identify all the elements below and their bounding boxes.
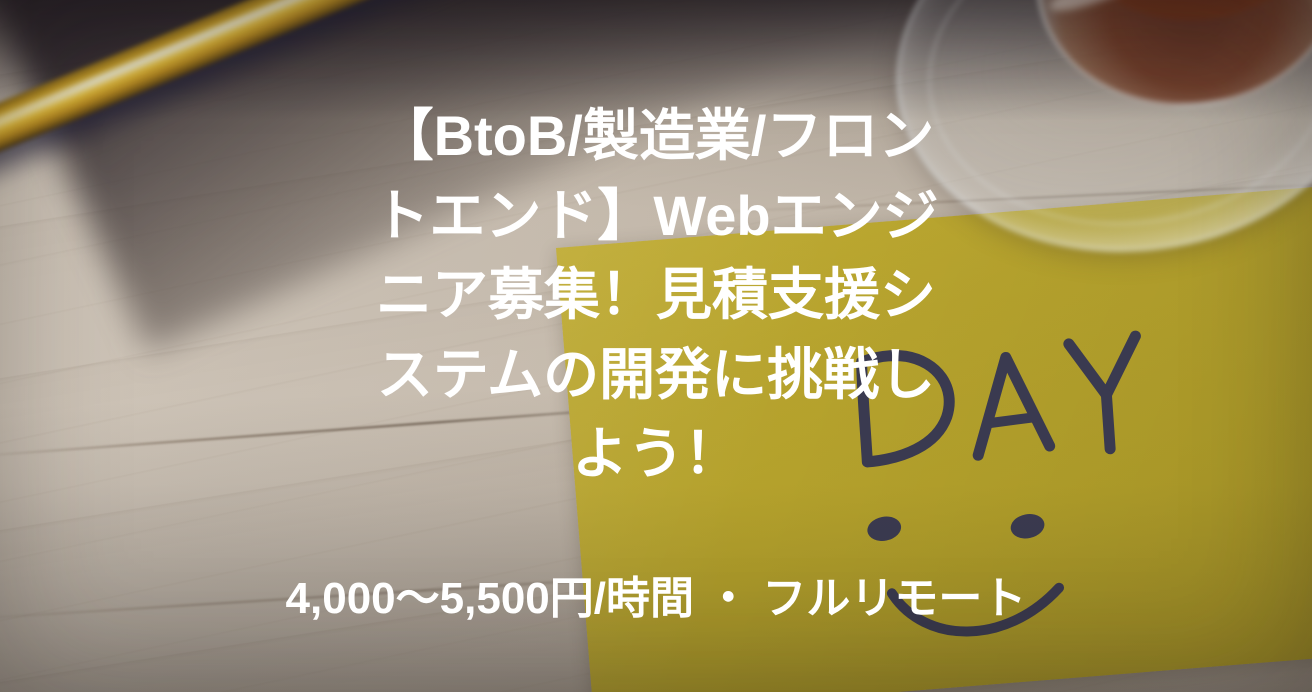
job-headline: 【BtoB/製造業/フロントエンド】Webエンジニア募集！見積支援システムの開発… xyxy=(356,96,956,494)
job-banner: 【BtoB/製造業/フロントエンド】Webエンジニア募集！見積支援システムの開発… xyxy=(0,0,1312,692)
banner-text-block: 【BtoB/製造業/フロントエンド】Webエンジニア募集！見積支援システムの開発… xyxy=(0,0,1312,692)
job-subtitle: 4,000〜5,500円/時間 ・ フルリモート xyxy=(286,494,1027,627)
